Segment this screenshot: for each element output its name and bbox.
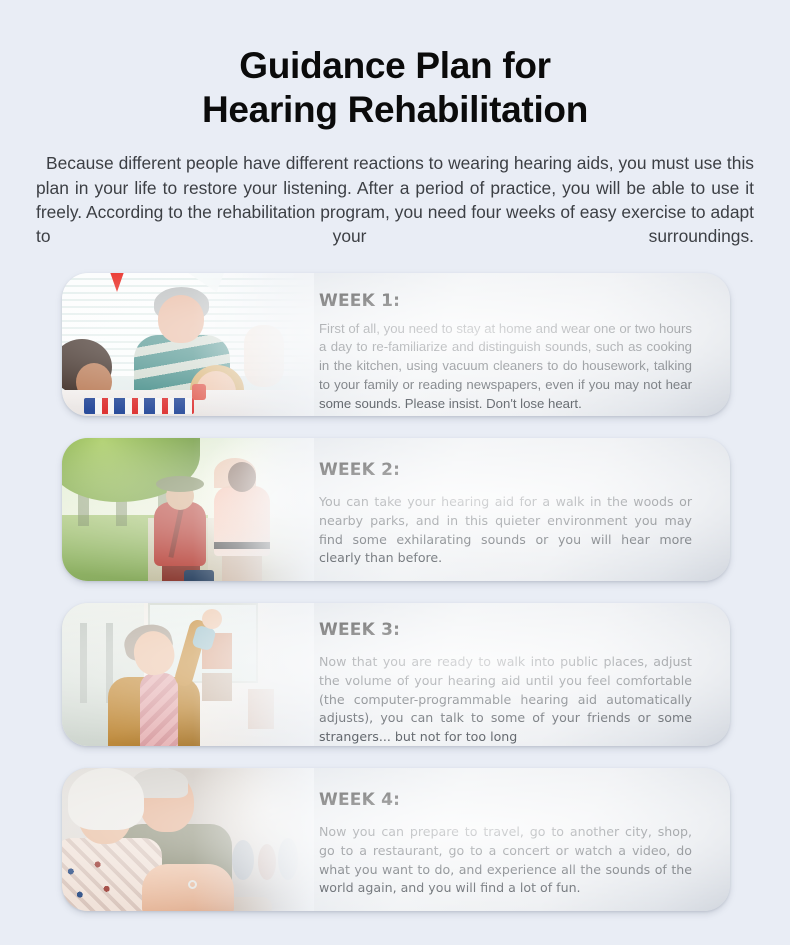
week-card-text: WEEK 1: First of all, you need to stay a…	[319, 273, 700, 416]
poster-shape	[202, 673, 232, 701]
week-label: WEEK 2:	[319, 460, 692, 480]
elderly-couple-illustration	[62, 768, 314, 911]
page-title-line-2: Hearing Rehabilitation	[0, 88, 790, 132]
intro-paragraph: Because different people have different …	[36, 151, 754, 248]
belt-shape	[214, 542, 270, 549]
background-figure-shape	[232, 840, 254, 880]
ring-shape	[188, 880, 197, 889]
arm-shape	[244, 325, 284, 387]
page-header: Guidance Plan for Hearing Rehabilitation…	[0, 0, 790, 249]
week-label: WEEK 1:	[319, 291, 692, 311]
week-body: Now you can prepare to travel, go to ano…	[319, 823, 692, 899]
week-card-text: WEEK 4: Now you can prepare to travel, g…	[319, 768, 700, 911]
week-card: WEEK 1: First of all, you need to stay a…	[62, 273, 730, 416]
week-body: You can take your hearing aid for a walk…	[319, 493, 692, 569]
bag-shape	[184, 570, 214, 581]
background-figure-shape	[258, 844, 276, 880]
park-walk-illustration	[62, 438, 314, 581]
background-figure-shape	[278, 838, 298, 880]
week-photo	[62, 438, 314, 581]
red-flag-shape	[110, 273, 124, 292]
page-title-line-1: Guidance Plan for	[0, 44, 790, 88]
week-card-text: WEEK 2: You can take your hearing aid fo…	[319, 438, 700, 581]
shop-reaching-illustration	[62, 603, 314, 746]
poster-page: Guidance Plan for Hearing Rehabilitation…	[0, 0, 790, 945]
week-label: WEEK 4:	[319, 790, 692, 810]
week-photo	[62, 273, 314, 416]
week-card-text: WEEK 3: Now that you are ready to walk i…	[319, 603, 700, 746]
page-title: Guidance Plan for Hearing Rehabilitation	[0, 44, 790, 131]
week-photo	[62, 603, 314, 746]
week-body: Now that you are ready to walk into publ…	[319, 653, 692, 746]
companion-head-shape	[228, 462, 256, 492]
blouse-pattern-shape	[62, 854, 122, 911]
week-card: WEEK 4: Now you can prepare to travel, g…	[62, 768, 730, 911]
week-card-list: WEEK 1: First of all, you need to stay a…	[0, 273, 790, 911]
poster-shape	[248, 689, 274, 729]
companion-legs-shape	[222, 556, 262, 581]
red-cup-shape	[192, 384, 206, 400]
scarf-shape	[140, 673, 178, 746]
pole-shape	[80, 623, 87, 703]
kitchen-family-illustration	[62, 273, 314, 416]
cups-shape	[84, 398, 194, 414]
hat-shape	[156, 476, 204, 492]
week-card: WEEK 3: Now that you are ready to walk i…	[62, 603, 730, 746]
week-photo	[62, 768, 314, 911]
hand-shape	[202, 609, 222, 629]
woman-hair-shape	[68, 768, 144, 830]
woman-head-shape	[158, 295, 204, 343]
week-card: WEEK 2: You can take your hearing aid fo…	[62, 438, 730, 581]
week-body: First of all, you need to stay at home a…	[319, 320, 692, 414]
week-label: WEEK 3:	[319, 620, 692, 640]
